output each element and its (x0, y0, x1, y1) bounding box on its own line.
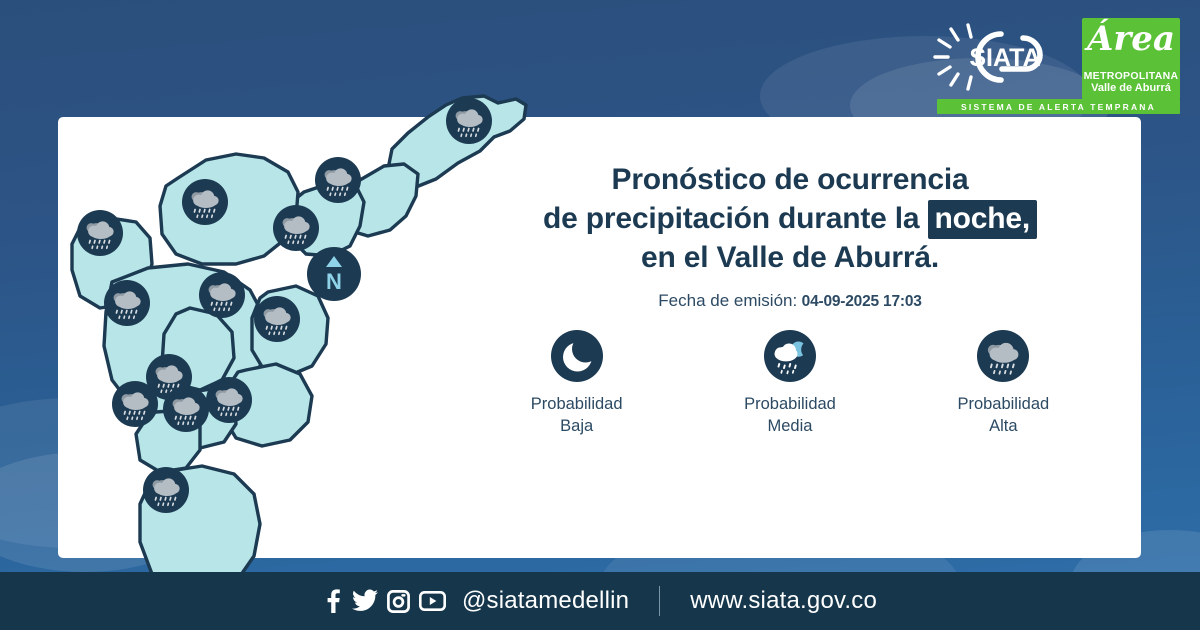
logo-group: SIATA Área METROPOLITANA Valle de Aburrá (927, 18, 1180, 100)
title-line-2-text: de precipitación durante la (543, 202, 919, 235)
issue-date-value: 04-09-2025 17:03 (802, 293, 922, 310)
cloud-rain-heavy-icon (977, 330, 1029, 382)
legend-label-alta: Probabilidad Alta (916, 394, 1091, 438)
map-marker-alta (104, 280, 150, 326)
map-marker-alta (77, 210, 123, 256)
legend-item-baja: Probabilidad Baja (489, 330, 664, 438)
instagram-icon[interactable] (387, 590, 410, 613)
tagline-text: SISTEMA DE ALERTA TEMPRANA (961, 102, 1156, 112)
amva-script-label: Área (1082, 22, 1180, 56)
amva-logo: Área METROPOLITANA Valle de Aburrá (1082, 18, 1180, 100)
amva-line2: Valle de Aburrá (1091, 82, 1171, 95)
title-highlight-period: noche, (928, 200, 1037, 239)
issue-date: Fecha de emisión: 04-09-2025 17:03 (470, 291, 1110, 311)
siata-logo: SIATA (927, 18, 1072, 96)
social-handle[interactable]: @siatamedellin (462, 587, 629, 615)
legend-baja-line1: Probabilidad (489, 394, 664, 416)
map-marker-alta (273, 205, 319, 251)
cloud-rain-moon-icon (764, 330, 816, 382)
moon-icon (551, 330, 603, 382)
legend-baja-line2: Baja (489, 416, 664, 438)
twitter-icon[interactable] (352, 589, 378, 613)
infographic-root: SIATA Área METROPOLITANA Valle de Aburrá… (0, 0, 1200, 630)
probability-legend: Probabilidad Baja (470, 330, 1110, 438)
north-label: N (326, 269, 342, 294)
legend-media-line1: Probabilidad (702, 394, 877, 416)
title-line-3: en el Valle de Aburrá. (470, 238, 1110, 277)
title-line-2: de precipitación durante la noche, (470, 199, 1110, 238)
map-marker-alta (163, 386, 209, 432)
legend-item-media: Probabilidad Media (702, 330, 877, 438)
map-marker-alta (112, 381, 158, 427)
legend-item-alta: Probabilidad Alta (916, 330, 1091, 438)
tagline-banner: SISTEMA DE ALERTA TEMPRANA (937, 99, 1180, 114)
map-marker-alta (182, 179, 228, 225)
title-line-1: Pronóstico de ocurrencia (470, 160, 1110, 199)
youtube-icon[interactable] (419, 591, 446, 611)
facebook-icon[interactable] (323, 589, 343, 613)
map-marker-alta (315, 157, 361, 203)
map-marker-alta (199, 272, 245, 318)
page-title: Pronóstico de ocurrencia de precipitació… (470, 160, 1110, 277)
map-marker-alta (206, 377, 252, 423)
map-marker-alta (254, 296, 300, 342)
legend-alta-line1: Probabilidad (916, 394, 1091, 416)
amva-line1: METROPOLITANA (1084, 70, 1179, 82)
siata-logo-mark: SIATA (927, 18, 1072, 96)
social-icon-group (323, 589, 446, 613)
map-marker-alta (446, 98, 492, 144)
headline-block: Pronóstico de ocurrencia de precipitació… (470, 160, 1110, 311)
legend-label-baja: Probabilidad Baja (489, 394, 664, 438)
issue-date-label: Fecha de emisión: (658, 291, 797, 310)
footer-divider (659, 586, 660, 616)
siata-wordmark: SIATA (969, 44, 1040, 72)
footer-bar: @siatamedellin www.siata.gov.co (0, 572, 1200, 630)
website-url[interactable]: www.siata.gov.co (690, 587, 877, 615)
legend-media-line2: Media (702, 416, 877, 438)
map-marker-alta (143, 467, 189, 513)
legend-label-media: Probabilidad Media (702, 394, 877, 438)
north-compass-marker: N (307, 247, 361, 301)
legend-alta-line2: Alta (916, 416, 1091, 438)
